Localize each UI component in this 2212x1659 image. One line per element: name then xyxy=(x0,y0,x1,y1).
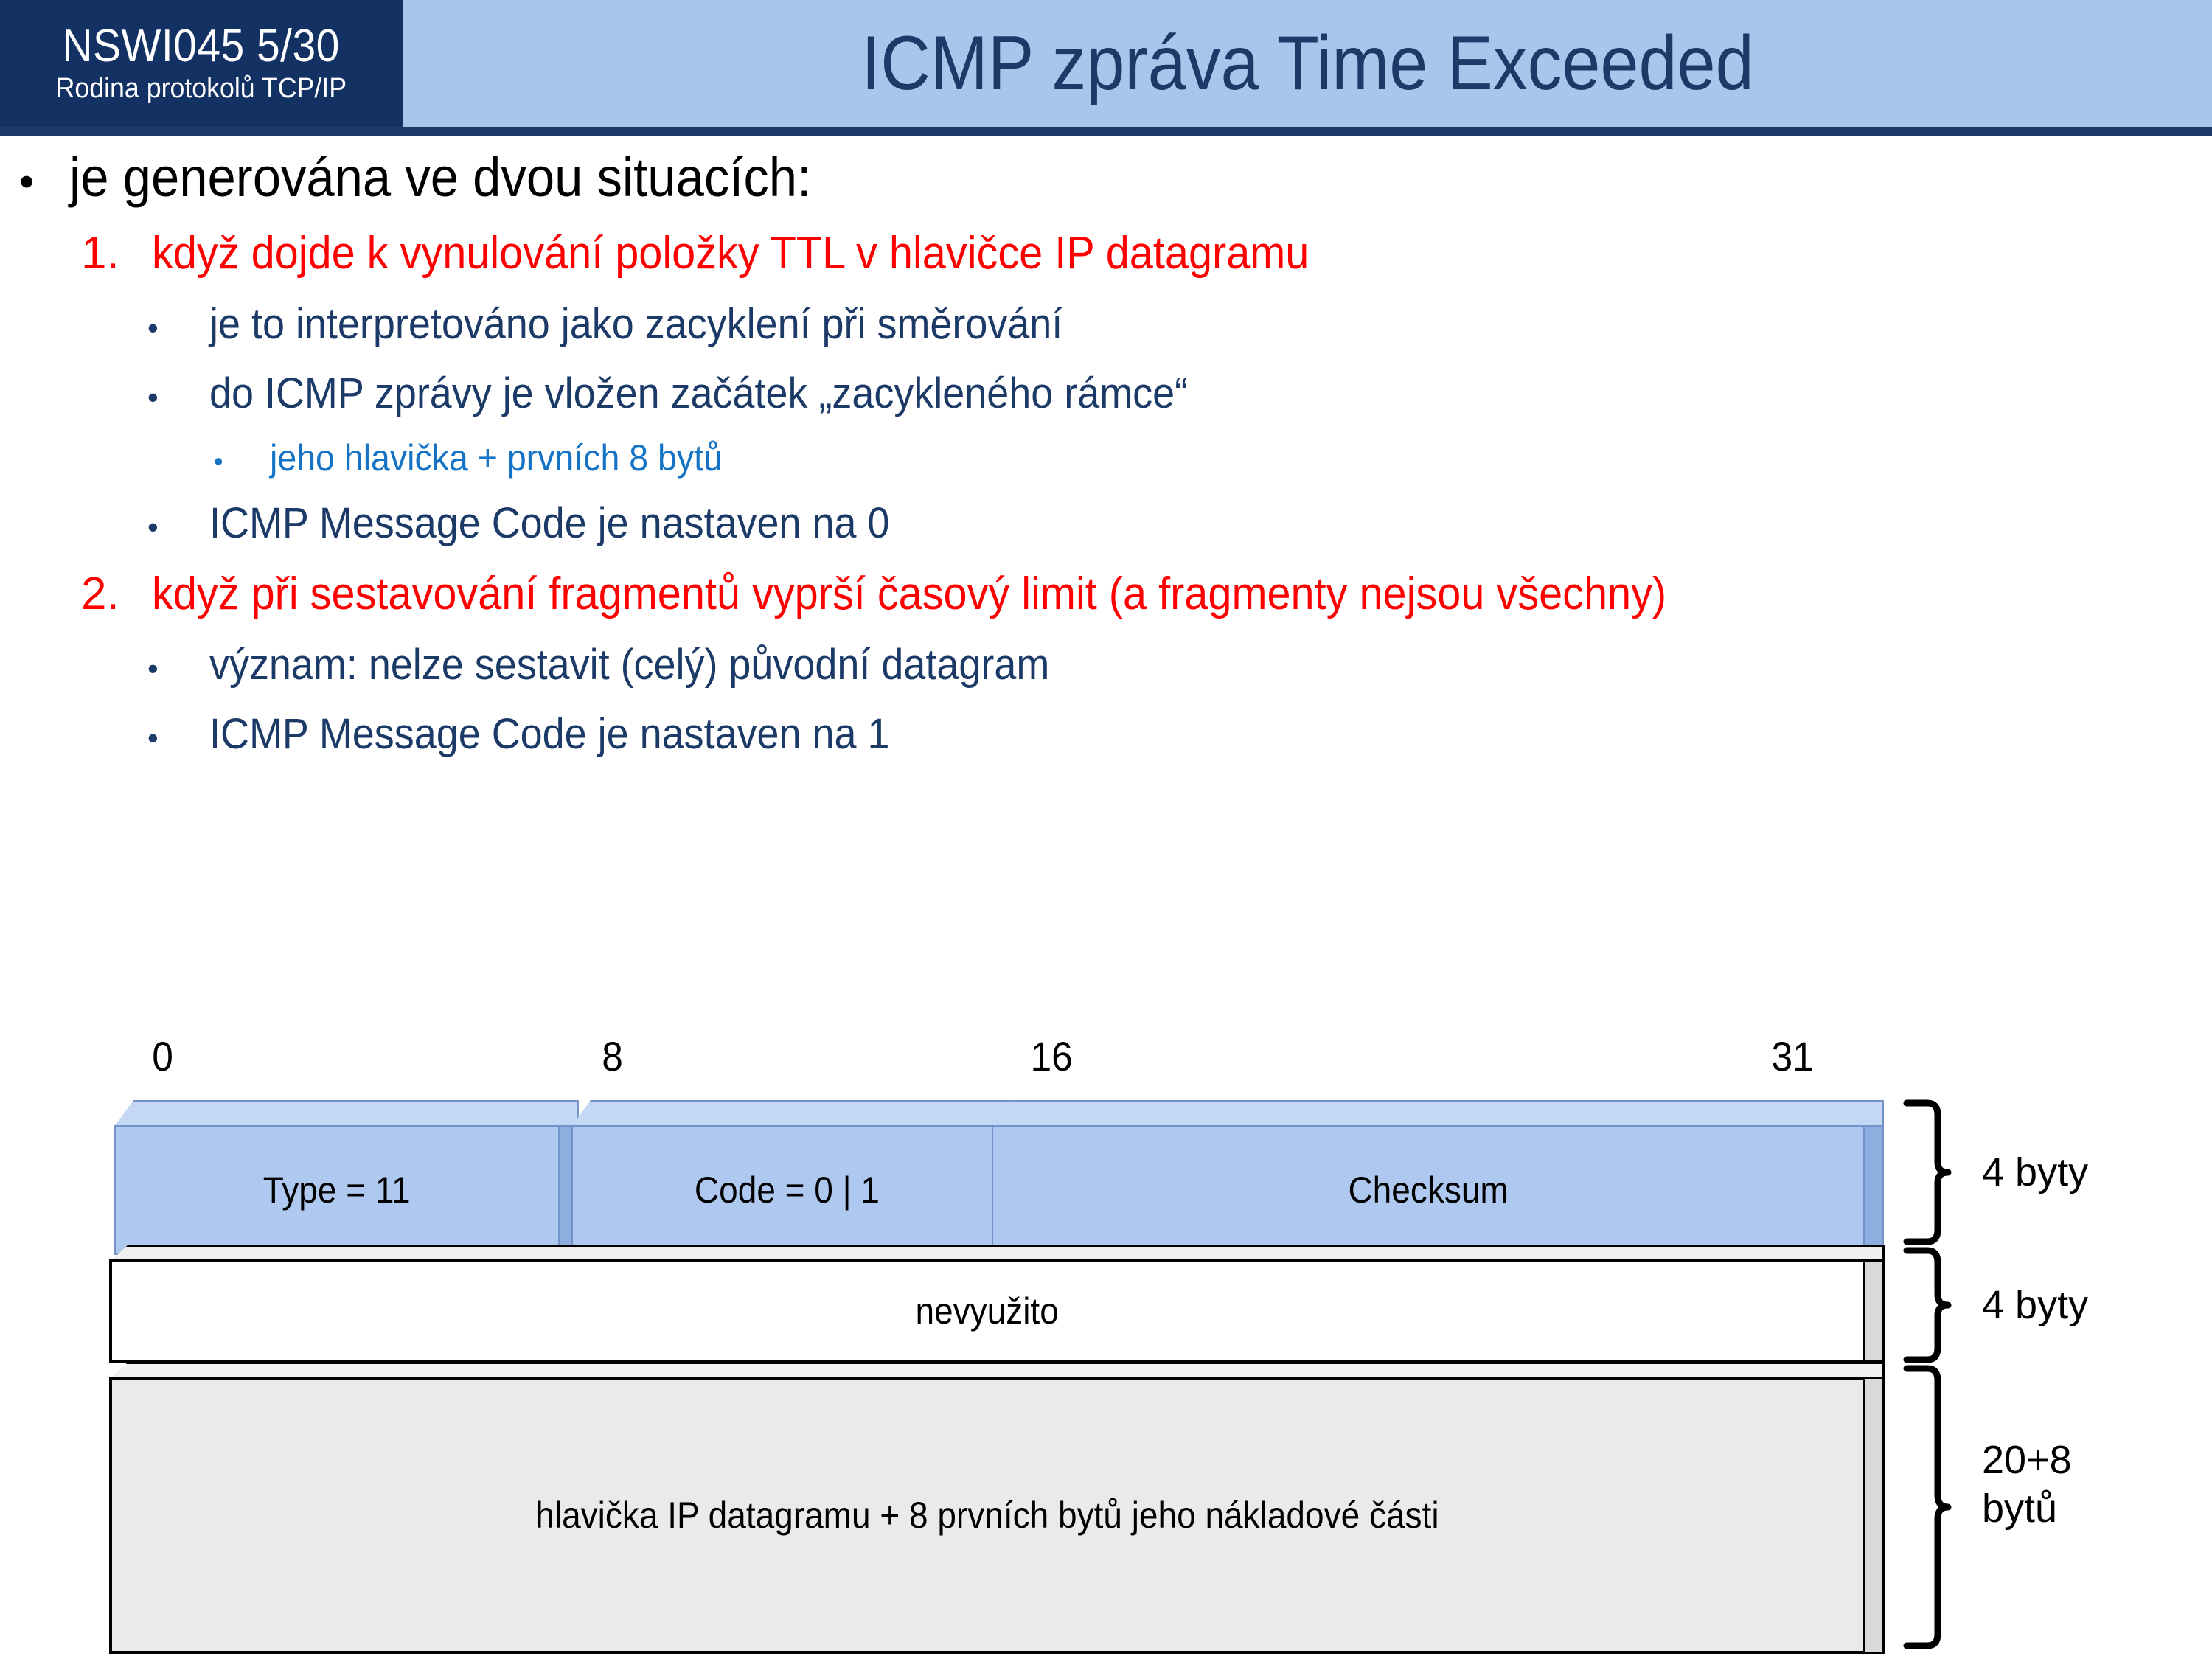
bullet-marker: 1. xyxy=(81,227,152,279)
size-label-payload: 20+8 bytů xyxy=(1982,1436,2072,1534)
bullet-marker: • xyxy=(214,446,270,477)
bullet-label: jeho hlavička + prvních 8 bytů xyxy=(270,437,757,479)
slide-header: NSWI045 5/30 Rodina protokolů TCP/IP ICM… xyxy=(0,0,2212,136)
bullet-marker: • xyxy=(147,651,209,686)
bullet-label: když dojde k vynulování položky TTL v hl… xyxy=(152,227,1397,279)
course-subtitle-label: Rodina protokolů TCP/IP xyxy=(56,74,347,104)
bullet-label: je generována ve dvou situacích: xyxy=(69,146,867,209)
bullet-marker: 2. xyxy=(81,568,152,620)
brace-4-byty-unused xyxy=(1907,1251,1948,1360)
bullet-item: • ICMP Message Code je nastaven na 0 xyxy=(147,498,2212,560)
size-label-unused: 4 byty xyxy=(1982,1281,2088,1330)
bullet-label: je to interpretováno jako zacyklení při … xyxy=(209,299,1127,349)
page-title-text: ICMP zpráva Time Exceeded xyxy=(861,20,1753,108)
bullet-label: když při sestavování fragmentů vyprší ča… xyxy=(152,568,1781,620)
bullet-marker: • xyxy=(147,720,209,756)
bullet-item: • do ICMP zprávy je vložen začátek „zacy… xyxy=(147,369,2212,431)
bullet-item: • ICMP Message Code je nastaven na 1 xyxy=(147,709,2212,771)
page-title: ICMP zpráva Time Exceeded xyxy=(403,0,2212,127)
course-badge: NSWI045 5/30 Rodina protokolů TCP/IP xyxy=(0,0,403,127)
bullet-item: • význam: nelze sestavit (celý) původní … xyxy=(147,640,2212,702)
brace-4-byty-header xyxy=(1907,1103,1948,1242)
header-rule-divider xyxy=(0,127,2212,136)
bullet-marker: • xyxy=(147,380,209,415)
bullet-item: • je to interpretováno jako zacyklení př… xyxy=(147,299,2212,361)
bullet-marker: • xyxy=(147,310,209,346)
bullet-item: • je generována ve dvou situacích: xyxy=(19,146,2212,220)
bullet-item: 1. když dojde k vynulování položky TTL v… xyxy=(81,227,2212,292)
bullet-label: ICMP Message Code je nastaven na 1 xyxy=(209,709,941,759)
brace-20-8-bytu-payload xyxy=(1907,1368,1948,1646)
icmp-packet-diagram: 0 8 16 31 Type = 11 Code = 0 | 1 Checksu… xyxy=(0,1032,2212,1659)
slide-body: • je generována ve dvou situacích: 1. kd… xyxy=(0,137,2212,771)
bullet-label: do ICMP zprávy je vložen začátek „zacykl… xyxy=(209,369,1262,418)
size-label-header: 4 byty xyxy=(1982,1149,2088,1197)
course-code-label: NSWI045 5/30 xyxy=(63,23,340,69)
bullet-label: ICMP Message Code je nastaven na 0 xyxy=(209,498,941,548)
bullet-marker: • xyxy=(19,157,69,206)
size-brace-group xyxy=(0,1032,2212,1659)
bullet-item: 2. když při sestavování fragmentů vyprší… xyxy=(81,568,2212,633)
bullet-marker: • xyxy=(147,509,209,545)
bullet-item: • jeho hlavička + prvních 8 bytů xyxy=(214,437,2212,491)
bullet-label: význam: nelze sestavit (celý) původní da… xyxy=(209,640,1113,689)
